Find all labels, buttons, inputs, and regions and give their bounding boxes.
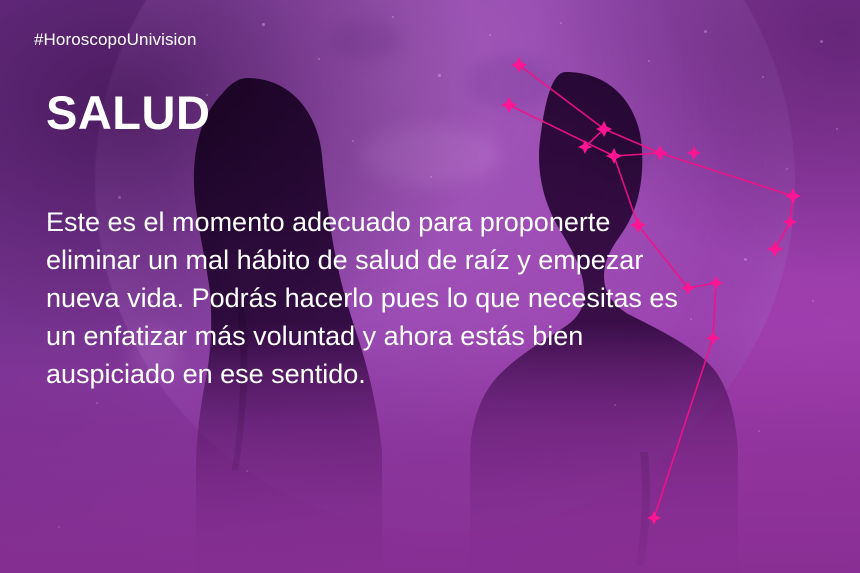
star-speck <box>392 16 394 18</box>
star-speck <box>352 140 354 142</box>
star-speck <box>820 40 823 43</box>
body-line: Este es el momento adecuado para propone… <box>46 203 816 241</box>
star-speck <box>58 526 60 528</box>
horoscope-body-text: Este es el momento adecuado para propone… <box>46 203 816 393</box>
star-speck <box>262 23 265 26</box>
star-speck <box>614 404 616 406</box>
star-speck <box>118 196 121 199</box>
star-speck <box>762 76 764 78</box>
star-speck <box>318 58 320 60</box>
star-speck <box>489 34 491 36</box>
star-speck <box>786 168 788 170</box>
star-speck <box>246 470 248 472</box>
body-line: auspiciado en ese sentido. <box>46 355 816 393</box>
star-speck <box>560 22 562 24</box>
horoscope-card: #HoroscopoUnivision SALUD Este es el mom… <box>0 0 860 573</box>
hashtag-label: #HoroscopoUnivision <box>34 30 197 50</box>
star-speck <box>96 402 98 404</box>
star-speck <box>438 74 441 77</box>
star-speck <box>704 30 707 33</box>
body-line: un enfatizar más voluntad y ahora estás … <box>46 317 816 355</box>
star-speck <box>648 60 650 62</box>
star-speck <box>758 430 760 432</box>
body-line: eliminar un mal hábito de salud de raíz … <box>46 241 816 279</box>
page-title: SALUD <box>46 89 210 136</box>
star-speck <box>836 128 838 130</box>
star-speck <box>430 176 432 178</box>
body-line: nueva vida. Podrás hacerlo pues lo que n… <box>46 279 816 317</box>
